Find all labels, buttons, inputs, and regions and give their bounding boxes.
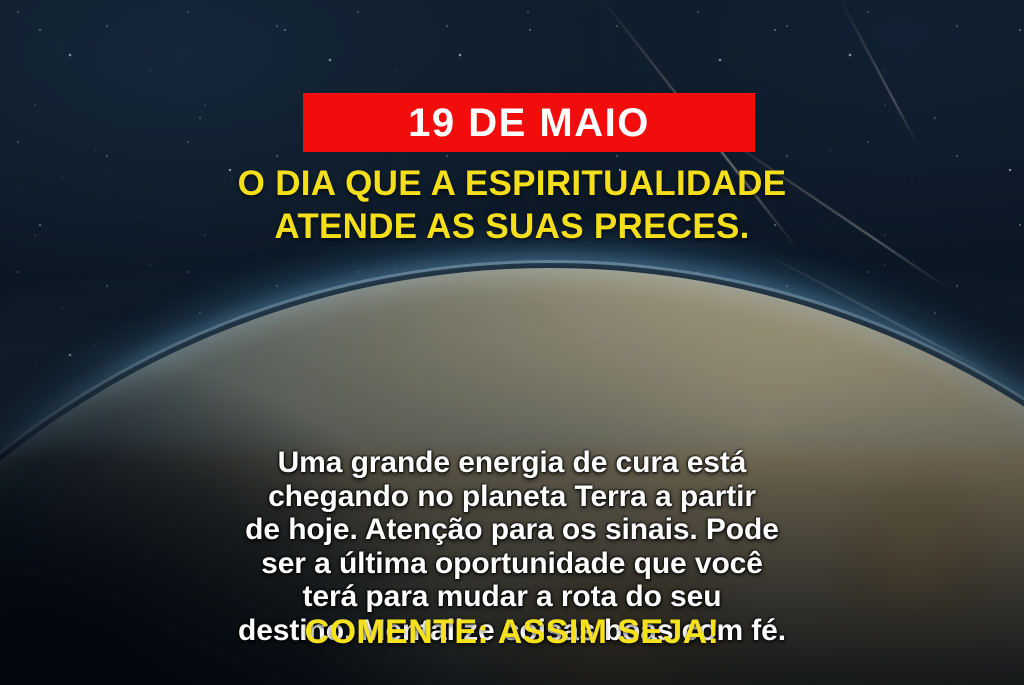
body-line-2: chegando no planeta Terra a partir bbox=[54, 480, 970, 514]
date-banner-text: 19 DE MAIO bbox=[408, 103, 650, 143]
body-line-1: Uma grande energia de cura está bbox=[54, 446, 970, 480]
call-to-action: COMENTE: ASSIM SEJA! bbox=[0, 614, 1024, 651]
headline-line-2: ATENDE AS SUAS PRECES. bbox=[40, 206, 984, 249]
call-to-action-text: COMENTE: ASSIM SEJA! bbox=[305, 613, 720, 651]
headline: O DIA QUE A ESPIRITUALIDADE ATENDE AS SU… bbox=[0, 163, 1024, 248]
date-banner: 19 DE MAIO bbox=[303, 93, 755, 152]
poster-content: 19 DE MAIO O DIA QUE A ESPIRITUALIDADE A… bbox=[0, 0, 1024, 685]
body-line-4: ser a última oportunidade que você bbox=[54, 547, 970, 581]
poster-canvas: 19 DE MAIO O DIA QUE A ESPIRITUALIDADE A… bbox=[0, 0, 1024, 685]
body-line-5: terá para mudar a rota do seu bbox=[54, 580, 970, 614]
headline-line-1: O DIA QUE A ESPIRITUALIDADE bbox=[40, 163, 984, 206]
body-line-3: de hoje. Atenção para os sinais. Pode bbox=[54, 513, 970, 547]
